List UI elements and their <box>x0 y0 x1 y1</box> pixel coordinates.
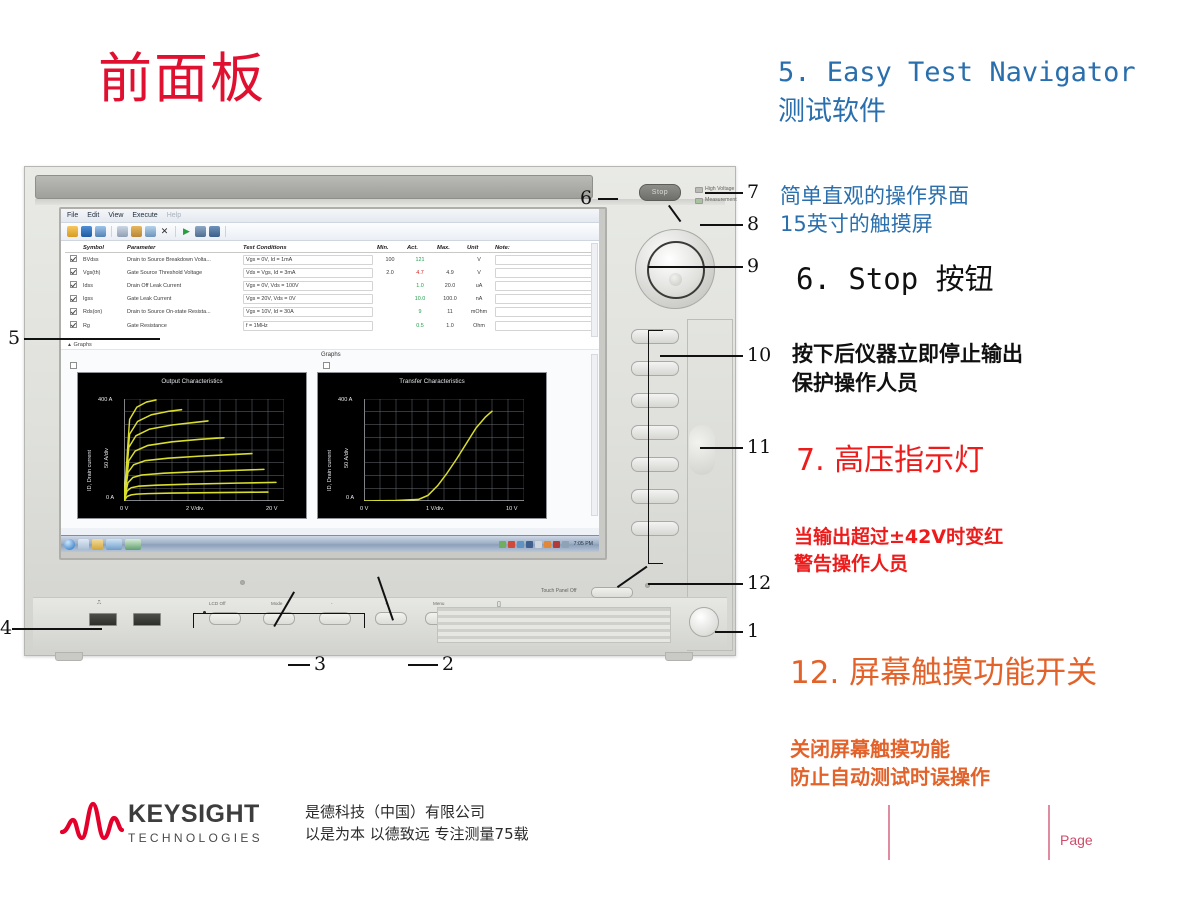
table-row[interactable]: BVdssDrain to Source Breakdown Volta...V… <box>65 253 595 267</box>
measurement-led <box>695 198 703 204</box>
taskbar-clock: 7:05 PM <box>571 541 593 547</box>
annotation-7-body: 当输出超过±42V时变红 警告操作人员 <box>794 524 1003 577</box>
chart-2-ytick-bottom: 0 A <box>346 495 354 501</box>
th-select <box>65 244 81 253</box>
cell-max: 11 <box>435 306 465 319</box>
th-conditions: Test Conditions <box>241 244 375 253</box>
usb-port-1[interactable] <box>89 613 117 626</box>
cell-conditions[interactable]: Vgs = 0V, Id = 1mA <box>241 253 375 267</box>
chart-output-characteristics: Output Characteristics ID, Drain current… <box>77 372 307 519</box>
touch-panel-off-label: Touch Panel Off <box>541 588 577 594</box>
logo-wordmark: KEYSIGHT <box>128 802 263 827</box>
cell-conditions[interactable]: Vds = Vgs, Id = 3mA <box>241 266 375 279</box>
logo-tagline: TECHNOLOGIES <box>128 831 263 845</box>
cell-conditions[interactable]: Vgs = 10V, Id = 30A <box>241 306 375 319</box>
cell-act: 1.0 <box>405 279 435 292</box>
cell-note[interactable] <box>493 266 595 279</box>
cell-unit: nA <box>465 293 493 306</box>
callout-4: 4 <box>0 617 12 639</box>
save-icon[interactable] <box>81 226 92 237</box>
cell-symbol: BVdss <box>81 253 125 267</box>
stop-button[interactable]: Stop <box>639 184 681 201</box>
th-max: Max. <box>435 244 465 253</box>
leader-5 <box>24 338 160 340</box>
parameter-table: Symbol Parameter Test Conditions Min. Ac… <box>65 244 595 332</box>
cell-parameter: Drain to Source On-state Resista... <box>125 306 241 319</box>
cell-note[interactable] <box>493 306 595 319</box>
callout-2: 2 <box>442 653 454 675</box>
chart-2-title: Transfer Characteristics <box>318 378 546 385</box>
cell-min: 2.0 <box>375 266 405 279</box>
annotation-6-body: 按下后仪器立即停止输出 保护操作人员 <box>792 340 1023 398</box>
cell-min: 100 <box>375 253 405 267</box>
th-parameter: Parameter <box>125 244 241 253</box>
touch-panel-off-button[interactable] <box>591 587 633 598</box>
tray-icon-1[interactable] <box>499 541 506 548</box>
cell-symbol: Vgs(th) <box>81 266 125 279</box>
top-bezel <box>35 175 593 199</box>
cell-symbol: Rds(on) <box>81 306 125 319</box>
leader-10 <box>660 355 743 357</box>
cell-conditions[interactable]: Vgs = 0V, Vds = 100V <box>241 279 375 292</box>
cell-parameter: Gate Resistance <box>125 319 241 332</box>
app-toolbar[interactable]: ✕ ▶ <box>61 223 599 241</box>
cell-act: 4.7 <box>405 266 435 279</box>
cell-parameter: Drain to Source Breakdown Volta... <box>125 253 241 267</box>
open-icon[interactable] <box>67 226 78 237</box>
parameter-table-container[interactable]: Symbol Parameter Test Conditions Min. Ac… <box>61 241 599 341</box>
leader-11 <box>700 447 743 449</box>
chart-1-ylabel: ID, Drain current <box>87 450 93 491</box>
usb-symbol-icon: ⎍ <box>97 600 101 607</box>
callout-8: 8 <box>747 213 759 235</box>
table-row[interactable]: RgGate Resistancef = 1MHz0.51.0Ohm <box>65 319 595 332</box>
table-row[interactable]: IdssDrain Off Leak CurrentVgs = 0V, Vds … <box>65 279 595 292</box>
toolbar-separator-1 <box>111 226 112 237</box>
leader-6 <box>598 198 618 200</box>
menu-label: Menu <box>433 601 445 606</box>
row-checkbox[interactable] <box>65 293 81 306</box>
row-checkbox[interactable] <box>65 319 81 332</box>
cell-parameter: Gate Leak Current <box>125 293 241 306</box>
keysight-logo-text: KEYSIGHT TECHNOLOGIES <box>128 802 263 845</box>
table-row[interactable]: Vgs(th)Gate Source Threshold VoltageVds … <box>65 266 595 279</box>
lcd-off-label: LCD Off <box>209 601 226 606</box>
cell-parameter: Drain Off Leak Current <box>125 279 241 292</box>
cell-note[interactable] <box>493 319 595 332</box>
cell-symbol: Igss <box>81 293 125 306</box>
annotation-12-heading: 12. 屏幕触摸功能开关 <box>790 655 1097 692</box>
graphs-title: Graphs <box>321 352 341 358</box>
cell-unit: V <box>465 266 493 279</box>
cell-conditions[interactable]: f = 1MHz <box>241 319 375 332</box>
th-act: Act. <box>405 244 435 253</box>
system-tray[interactable]: 7:05 PM <box>499 541 596 548</box>
rotary-knob[interactable] <box>647 241 705 299</box>
chart-1-ytick-top: 400 A <box>98 397 112 403</box>
th-symbol: Symbol <box>81 244 125 253</box>
chart-transfer-characteristics: Transfer Characteristics ID, Drain curre… <box>317 372 547 519</box>
windows-taskbar[interactable]: 7:05 PM <box>61 535 599 552</box>
toolbar-separator-2 <box>175 226 176 237</box>
callout-3: 3 <box>314 653 326 675</box>
cell-min <box>375 306 405 319</box>
measurement-led-label: Measurement <box>705 197 737 203</box>
taskbar-explorer-icon[interactable] <box>78 539 89 550</box>
chart-2-ytick-top: 400 A <box>338 397 352 403</box>
row-checkbox[interactable] <box>65 306 81 319</box>
callout-1: 1 <box>747 620 759 642</box>
usb-port-2[interactable] <box>133 613 161 626</box>
chart-2-ydiv: 50 A/div <box>344 448 350 468</box>
leader-3 <box>288 664 310 666</box>
annotation-12-body: 关闭屏幕触摸功能 防止自动测试时误操作 <box>790 735 990 791</box>
instrument-display[interactable]: File Edit View Execute Help ✕ ▶ <box>61 209 599 552</box>
graph-2-checkbox[interactable] <box>323 362 330 369</box>
annotation-7-heading: 7. 高压指示灯 <box>796 443 984 479</box>
menu-file[interactable]: File <box>67 212 78 219</box>
leader-12 <box>648 583 743 585</box>
tray-icon-2[interactable] <box>508 541 515 548</box>
font-icon[interactable] <box>131 226 142 237</box>
paste-icon[interactable] <box>145 226 156 237</box>
minus-label: - <box>331 601 333 606</box>
toolbar-separator-3 <box>225 226 226 237</box>
graphs-area: Graphs Output Characteristics ID, Drain … <box>61 349 599 528</box>
tray-icon-4[interactable] <box>526 541 533 548</box>
start-button-icon[interactable] <box>64 539 75 550</box>
cell-act: 10.0 <box>405 293 435 306</box>
foot-left <box>55 652 83 661</box>
callout-12: 12 <box>747 572 771 594</box>
cell-symbol: Idss <box>81 279 125 292</box>
chart-1-ydiv: 50 A/div <box>104 448 110 468</box>
stop-icon[interactable] <box>195 226 206 237</box>
tray-icon-8[interactable] <box>562 541 569 548</box>
tray-icon-5[interactable] <box>535 541 542 548</box>
footer-divider-left <box>888 805 890 860</box>
annotation-6-heading: 6. Stop 按钮 <box>796 262 994 297</box>
table-header-row: Symbol Parameter Test Conditions Min. Ac… <box>65 244 595 253</box>
graphs-section-label: Graphs <box>74 342 92 348</box>
annotation-5-heading-line2: 测试软件 <box>778 95 886 129</box>
chart-2-ylabel: ID, Drain current <box>327 450 333 491</box>
cell-act: 9 <box>405 306 435 319</box>
chart-1-ytick-bottom: 0 A <box>106 495 114 501</box>
row-checkbox[interactable] <box>65 266 81 279</box>
cell-act: 121 <box>405 253 435 267</box>
leader-9 <box>648 266 743 268</box>
taskbar-window-1[interactable] <box>106 539 122 550</box>
chart-1-title: Output Characteristics <box>78 378 306 385</box>
tray-icon-6[interactable] <box>544 541 551 548</box>
copy-icon[interactable] <box>117 226 128 237</box>
leader-4 <box>12 628 102 630</box>
leader-10-bracket <box>648 330 663 564</box>
chart-2-xtick-left: 0 V <box>360 506 368 512</box>
th-note: Note: <box>493 244 595 253</box>
taskbar-window-2[interactable] <box>125 539 141 550</box>
foot-right <box>665 652 693 661</box>
keysight-logo-icon <box>60 800 124 844</box>
cell-unit: uA <box>465 279 493 292</box>
leader-2 <box>408 664 438 666</box>
single-icon[interactable] <box>209 226 220 237</box>
collapse-icon[interactable]: ▲ <box>67 342 72 348</box>
row-checkbox[interactable] <box>65 253 81 267</box>
row-checkbox[interactable] <box>65 279 81 292</box>
menu-edit[interactable]: Edit <box>87 212 99 219</box>
chart-2-xlabel: 1 V/div. <box>426 506 444 512</box>
th-unit: Unit <box>465 244 493 253</box>
callout-11: 11 <box>747 436 771 458</box>
menu-view[interactable]: View <box>108 212 123 219</box>
cell-note[interactable] <box>493 293 595 306</box>
run-icon[interactable]: ▶ <box>181 226 192 237</box>
cell-unit: V <box>465 253 493 267</box>
chart-1-plot-area <box>124 399 284 501</box>
cell-unit: mOhm <box>465 306 493 319</box>
cell-note[interactable] <box>493 253 595 267</box>
parameter-table-body: BVdssDrain to Source Breakdown Volta...V… <box>65 253 595 333</box>
graph-1-checkbox[interactable] <box>70 362 77 369</box>
callout-5: 5 <box>8 327 20 349</box>
tray-icon-3[interactable] <box>517 541 524 548</box>
cell-note[interactable] <box>493 279 595 292</box>
cell-max: 20.0 <box>435 279 465 292</box>
ventilation-grille <box>437 607 671 643</box>
cell-parameter: Gate Source Threshold Voltage <box>125 266 241 279</box>
cell-max: 1.0 <box>435 319 465 332</box>
taskbar-app-icon[interactable] <box>92 539 103 550</box>
cell-symbol: Rg <box>81 319 125 332</box>
chart-1-xtick-left: 0 V <box>120 506 128 512</box>
cell-max: 100.0 <box>435 293 465 306</box>
callout-10: 10 <box>747 344 771 366</box>
table-row[interactable]: IgssGate Leak CurrentVgs = 20V, Vds = 0V… <box>65 293 595 306</box>
annotation-5-heading: 5. Easy Test Navigator <box>778 56 1136 90</box>
th-min: Min. <box>375 244 405 253</box>
cell-min <box>375 293 405 306</box>
cell-max: 4.9 <box>435 266 465 279</box>
page-title: 前面板 <box>98 52 266 106</box>
footer-divider-right <box>1048 805 1050 860</box>
leader-8a <box>700 224 743 226</box>
side-latch <box>689 425 715 475</box>
cell-min <box>375 279 405 292</box>
leader-1 <box>715 631 743 633</box>
screw-1 <box>240 580 245 585</box>
chart-1-xlabel: 2 V/div. <box>186 506 204 512</box>
cell-act: 0.5 <box>405 319 435 332</box>
bezel-shadow <box>35 199 725 205</box>
delete-icon[interactable]: ✕ <box>159 226 170 237</box>
print-icon[interactable] <box>95 226 106 237</box>
leader-7 <box>705 192 743 194</box>
table-scrollbar[interactable] <box>591 243 598 337</box>
cell-unit: Ohm <box>465 319 493 332</box>
chart-1-xtick-right: 20 V <box>266 506 278 512</box>
chart-2-plot-area <box>364 399 524 501</box>
menu-execute[interactable]: Execute <box>132 212 157 219</box>
menu-help[interactable]: Help <box>167 212 181 219</box>
high-voltage-led <box>695 187 703 193</box>
rotary-knob-dimple <box>669 273 682 286</box>
cell-max <box>435 253 465 267</box>
cell-conditions[interactable]: Vgs = 20V, Vds = 0V <box>241 293 375 306</box>
table-row[interactable]: Rds(on)Drain to Source On-state Resista.… <box>65 306 595 319</box>
annotation-5-body: 简单直观的操作界面 15英寸的触摸屏 <box>780 182 969 239</box>
callout-7: 7 <box>747 181 759 203</box>
graphs-section-header[interactable]: ▲ Graphs <box>61 341 599 349</box>
graphs-scrollbar[interactable] <box>591 354 598 516</box>
chart-2-xtick-right: 10 V <box>506 506 518 512</box>
callout-9: 9 <box>747 255 759 277</box>
mode-label: Mode <box>271 601 283 606</box>
tray-icon-7[interactable] <box>553 541 560 548</box>
footer-company-text: 是德科技（中国）有限公司 以是为本 以德致远 专注测量75载 <box>305 802 529 846</box>
callout-6: 6 <box>580 187 592 209</box>
app-menubar[interactable]: File Edit View Execute Help <box>61 209 599 223</box>
page-number-label: Page <box>1060 832 1093 848</box>
cell-min <box>375 319 405 332</box>
